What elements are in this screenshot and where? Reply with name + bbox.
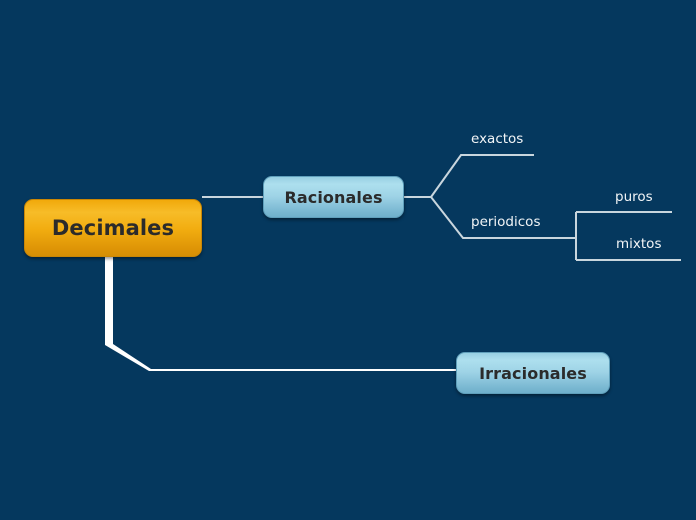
node-racionales-label: Racionales xyxy=(284,188,382,207)
connector-fork-exactos xyxy=(431,155,534,197)
node-irracionales-label: Irracionales xyxy=(479,364,587,383)
leaf-periodicos[interactable]: periodicos xyxy=(471,214,540,230)
node-irracionales[interactable]: Irracionales xyxy=(456,352,610,394)
node-decimales[interactable]: Decimales xyxy=(24,199,202,257)
leaf-exactos[interactable]: exactos xyxy=(471,131,523,147)
leaf-puros[interactable]: puros xyxy=(615,189,653,205)
connector-layer xyxy=(0,0,696,520)
connector-decimales-irracionales xyxy=(105,257,456,371)
node-racionales[interactable]: Racionales xyxy=(263,176,404,218)
mindmap-canvas: Decimales Racionales Irracionales exacto… xyxy=(0,0,696,520)
node-decimales-label: Decimales xyxy=(52,216,174,240)
leaf-mixtos[interactable]: mixtos xyxy=(616,236,661,252)
